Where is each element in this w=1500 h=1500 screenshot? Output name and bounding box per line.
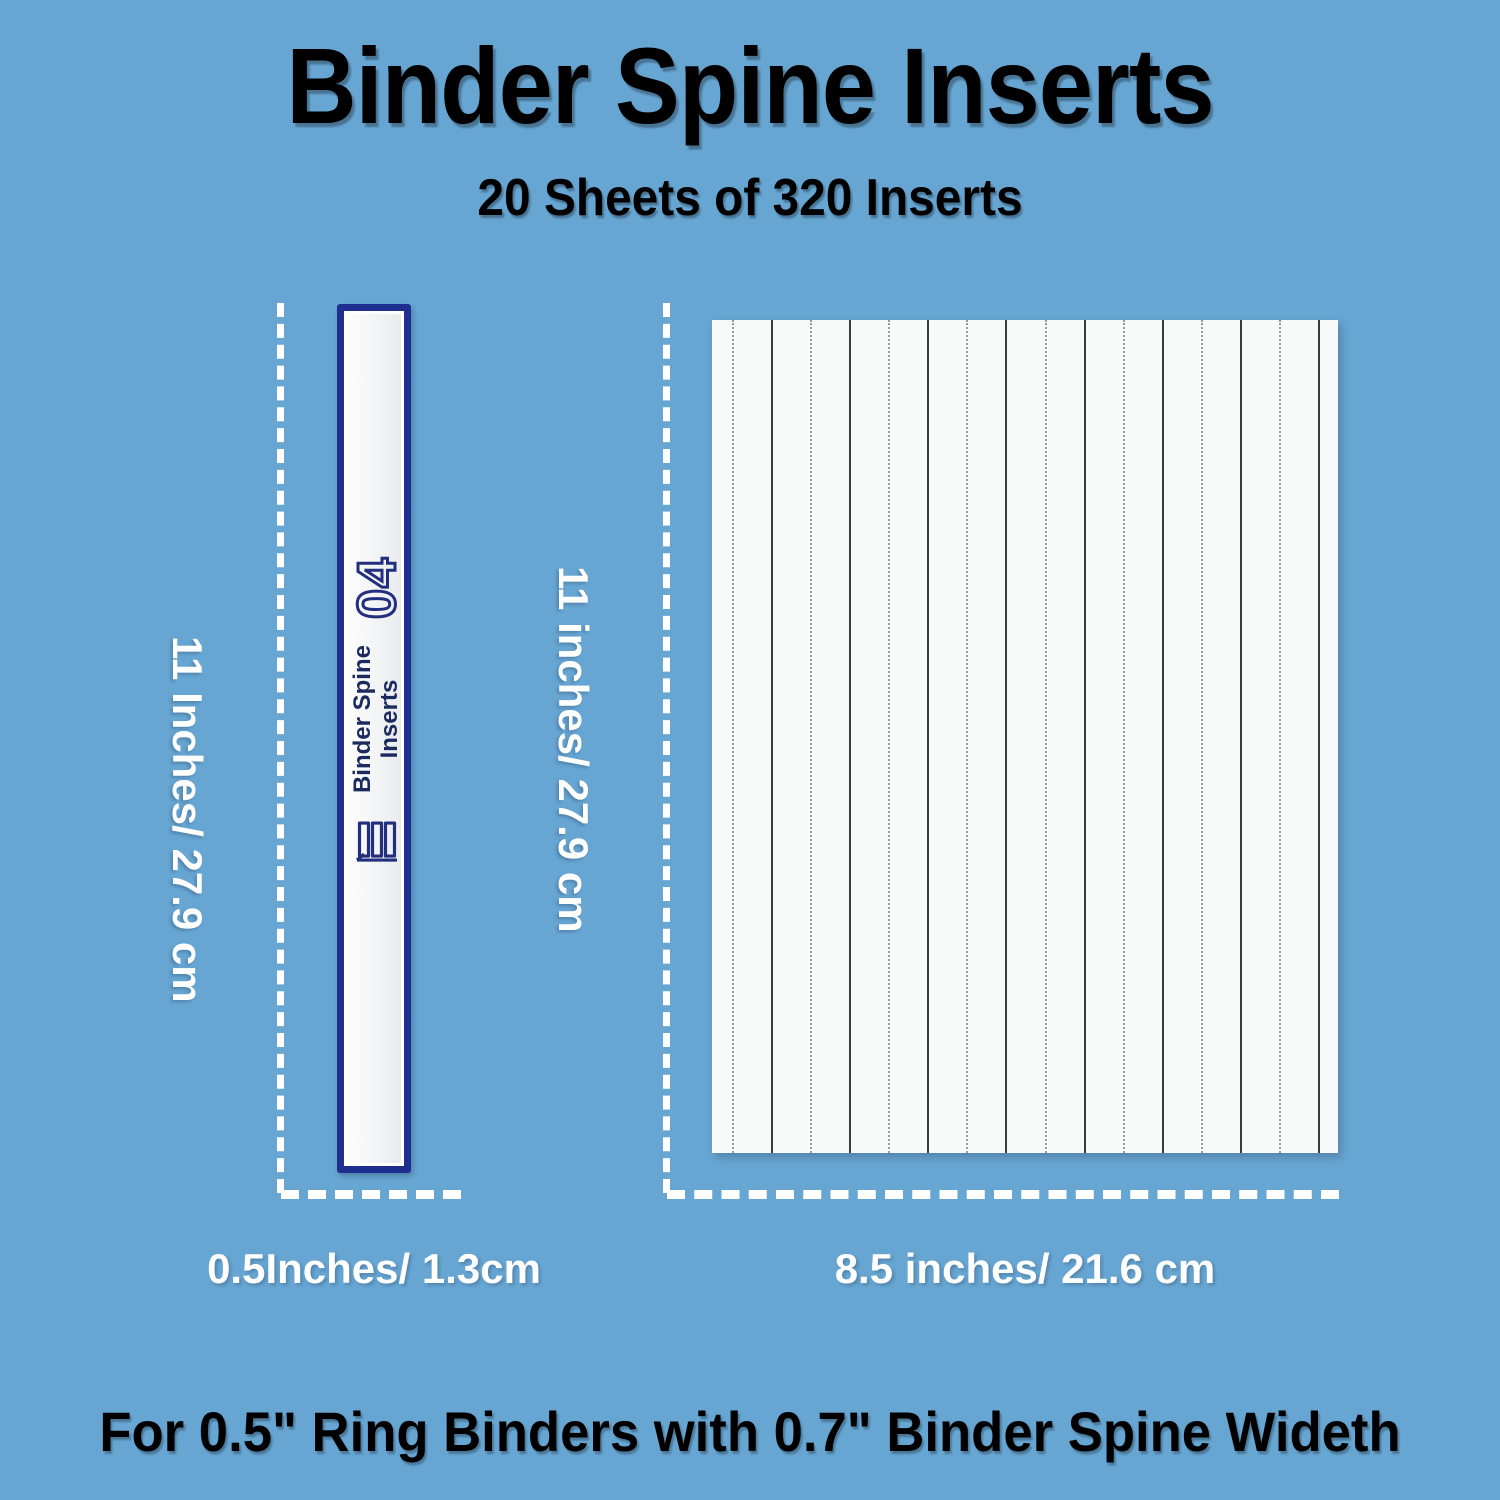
spine-strip-rotated-group: 04 Binder Spine Inserts <box>350 557 404 871</box>
perforation-line <box>1123 320 1125 1153</box>
perforation-line <box>1318 320 1320 1153</box>
perforation-line <box>849 320 851 1153</box>
page-title: Binder Spine Inserts <box>75 32 1425 140</box>
perforation-line <box>771 320 773 1153</box>
spine-text-line-2: Inserts <box>376 680 403 759</box>
compatibility-note: For 0.5" Ring Binders with 0.7" Binder S… <box>45 1404 1455 1460</box>
sheet-width-caption: 8.5 inches/ 21.6 cm <box>735 1248 1315 1290</box>
perforation-line <box>1240 320 1242 1153</box>
binder-spine-insert-strip: 04 Binder Spine Inserts <box>337 304 411 1173</box>
spine-height-caption: 11 Inches/ 27.9 cm <box>166 636 208 1003</box>
spine-strip-printed-area: 04 Binder Spine Inserts <box>347 484 407 944</box>
spine-number-label: 04 <box>350 557 404 619</box>
spine-width-guide-line <box>281 1190 461 1199</box>
perforation-line <box>732 320 734 1153</box>
perforation-line <box>1084 320 1086 1153</box>
perforation-line <box>1201 320 1203 1153</box>
perforation-line <box>966 320 968 1153</box>
infographic-canvas: Binder Spine Inserts 20 Sheets of 320 In… <box>0 0 1500 1500</box>
spine-width-caption: 0.5Inches/ 1.3cm <box>84 1248 664 1290</box>
spine-text-label: Binder Spine Inserts <box>350 645 404 793</box>
page-subtitle: 20 Sheets of 320 Inserts <box>60 172 1440 224</box>
perforation-line <box>888 320 890 1153</box>
sheet-width-guide-line <box>667 1190 1339 1199</box>
perforation-line <box>1162 320 1164 1153</box>
insert-sheet <box>712 320 1338 1153</box>
spine-height-guide-line <box>277 303 284 1193</box>
perforation-line <box>1005 320 1007 1153</box>
perforation-line <box>810 320 812 1153</box>
perforation-line <box>1279 320 1281 1153</box>
sheet-height-caption: 11 inches/ 27.9 cm <box>552 566 594 933</box>
sheet-height-guide-line <box>663 303 670 1193</box>
perforation-line <box>1045 320 1047 1153</box>
perforation-line <box>927 320 929 1153</box>
spine-strip-face: 04 Binder Spine Inserts <box>347 314 401 1163</box>
spine-text-line-1: Binder Spine <box>349 645 376 793</box>
binder-rings-icon <box>355 819 399 871</box>
